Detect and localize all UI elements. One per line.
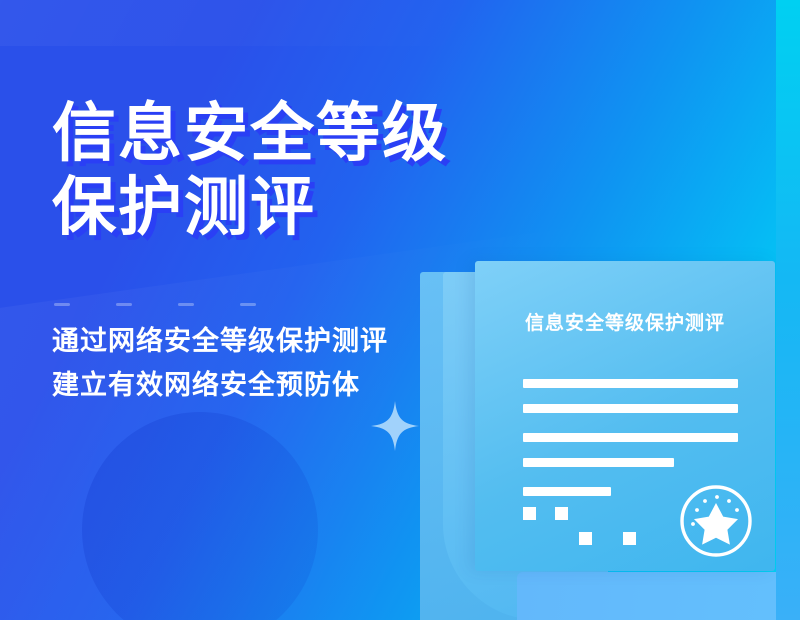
promo-banner: 信息安全等级 保护测评 通过网络安全等级保护测评 建立有效网络安全预防体 信息安… xyxy=(0,0,800,620)
doc-square xyxy=(579,532,592,545)
doc-line xyxy=(523,404,738,413)
doc-square xyxy=(555,507,568,520)
star-seal-icon xyxy=(678,483,754,559)
certificate-card-stack: 信息安全等级保护测评 xyxy=(0,0,800,620)
doc-square xyxy=(623,532,636,545)
bottom-accent-panel xyxy=(517,572,800,620)
doc-line xyxy=(523,379,738,388)
doc-line xyxy=(523,487,611,496)
certificate-card: 信息安全等级保护测评 xyxy=(475,261,775,571)
doc-square xyxy=(523,507,536,520)
doc-line xyxy=(523,458,674,467)
certificate-title: 信息安全等级保护测评 xyxy=(475,308,775,335)
doc-line xyxy=(523,433,738,442)
